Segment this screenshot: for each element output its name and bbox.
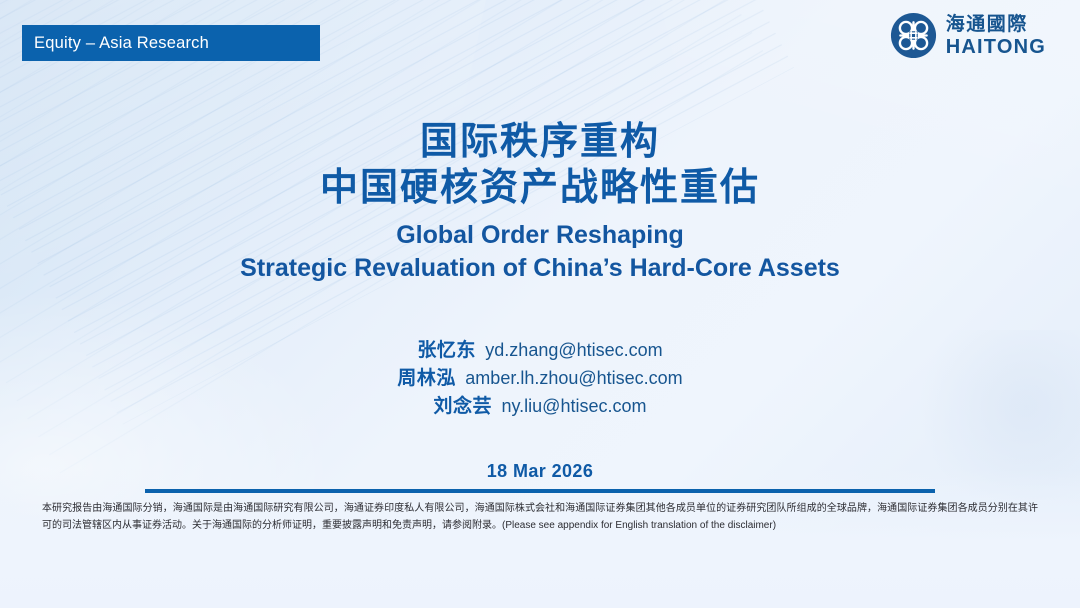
haitong-logo-english: HAITONG (946, 37, 1046, 57)
author-name: 周林泓 (397, 367, 456, 389)
author-email[interactable]: yd.zhang@htisec.com (485, 340, 662, 360)
author-name: 张忆东 (417, 339, 476, 361)
title-english-line-2: Strategic Revaluation of China’s Hard-Co… (0, 252, 1080, 285)
haitong-logo-chinese: 海通國際 (946, 15, 1046, 34)
title-chinese-line-1: 国际秩序重构 (0, 118, 1080, 164)
title-english-line-1: Global Order Reshaping (0, 219, 1080, 252)
author-row: 刘念芸 ny.liu@htisec.com (0, 393, 1080, 421)
author-row: 周林泓 amber.lh.zhou@htisec.com (0, 365, 1080, 393)
author-email[interactable]: ny.liu@htisec.com (501, 396, 646, 416)
publication-date: 18 Mar 2026 (0, 461, 1080, 482)
title-chinese-line-2: 中国硬核资产战略性重估 (0, 164, 1080, 210)
presentation-title-slide: Equity – Asia Research (0, 0, 1080, 608)
author-row: 张忆东 yd.zhang@htisec.com (0, 337, 1080, 365)
haitong-emblem-icon (890, 12, 937, 59)
section-banner-label: Equity – Asia Research (22, 34, 209, 53)
section-banner: Equity – Asia Research (22, 25, 320, 61)
title-block: 国际秩序重构 中国硬核资产战略性重估 Global Order Reshapin… (0, 118, 1080, 285)
author-email[interactable]: amber.lh.zhou@htisec.com (465, 368, 682, 388)
haitong-logo: 海通國際 HAITONG (890, 12, 1046, 59)
disclaimer-english: (Please see appendix for English transla… (502, 520, 776, 531)
haitong-logo-text: 海通國際 HAITONG (946, 15, 1046, 57)
authors-list: 张忆东 yd.zhang@htisec.com 周林泓 amber.lh.zho… (0, 337, 1080, 421)
horizontal-divider-rule (145, 489, 935, 493)
disclaimer-text: 本研究报告由海通国际分销，海通国际是由海通国际研究有限公司，海通证券印度私人有限… (42, 500, 1038, 534)
author-name: 刘念芸 (434, 395, 493, 417)
